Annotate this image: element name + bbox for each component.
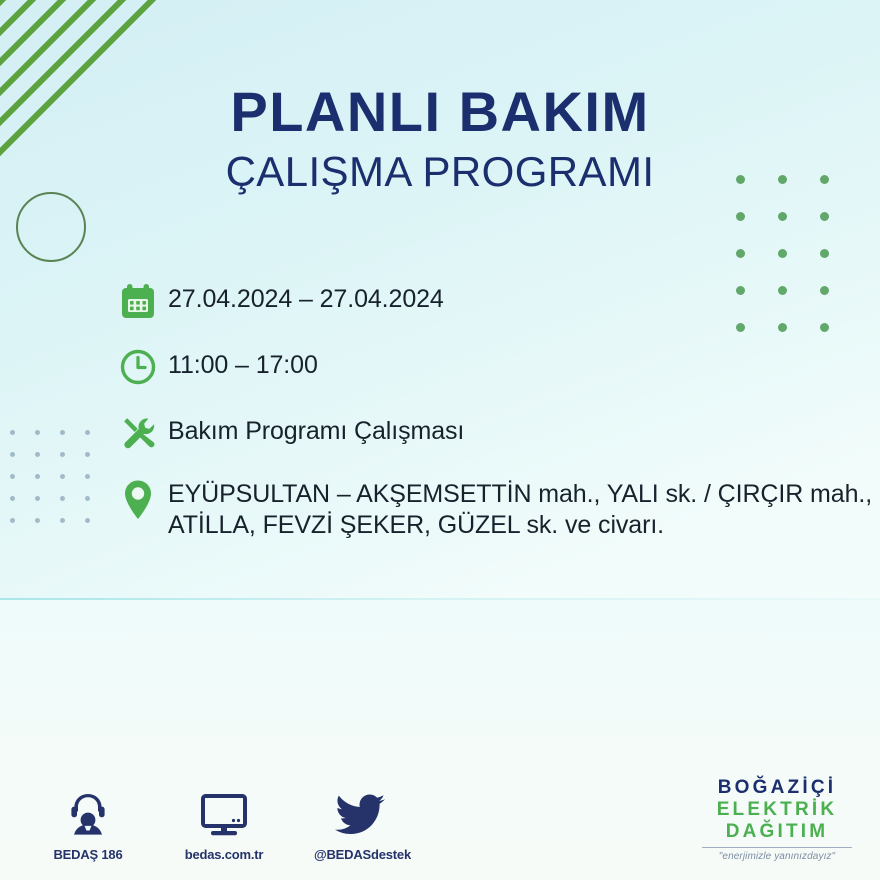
date-range-value: 27.04.2024 – 27.04.2024 [168,278,878,315]
page-subtitle: ÇALIŞMA PROGRAMI [0,151,880,193]
page-title: PLANLI BAKIM [0,84,880,140]
contact-twitter[interactable]: @BEDASdestek [314,786,406,862]
planned-maintenance-poster: PLANLI BAKIM ÇALIŞMA PROGRAMI [0,0,880,880]
work-type-value: Bakım Programı Çalışması [168,410,878,447]
footer-contacts: BEDAŞ 186 bedas.com.tr @BEDASdestek [42,786,406,862]
clock-icon [118,344,168,390]
logo-line-dagitim: DAĞITIM [692,821,862,843]
headset-support-icon [42,786,134,838]
contact-label: @BEDASdestek [314,847,406,862]
detail-row-work-type: Bakım Programı Çalışması [118,410,878,456]
logo-tagline: "enerjimizle yanınızdayız" [692,851,862,862]
logo-line-bogazici: BOĞAZİÇİ [692,777,862,799]
twitter-bird-icon [314,786,406,838]
location-pin-icon [118,476,168,520]
circle-outline-decoration [16,192,86,262]
address-value: EYÜPSULTAN – AKŞEMSETTİN mah., YALI sk. … [168,476,878,540]
calendar-icon [118,278,168,324]
detail-row-address: EYÜPSULTAN – AKŞEMSETTİN mah., YALI sk. … [118,476,878,540]
contact-label: BEDAŞ 186 [42,847,134,862]
contact-call-center[interactable]: BEDAŞ 186 [42,786,134,862]
maintenance-details: 27.04.2024 – 27.04.2024 11:00 – 17:00 [118,278,878,560]
tools-icon [118,410,168,456]
bedas-logo: BOĞAZİÇİ ELEKTRİK DAĞITIM "enerjimizle y… [692,777,862,862]
contact-website[interactable]: bedas.com.tr [178,786,270,862]
poster-heading: PLANLI BAKIM ÇALIŞMA PROGRAMI [0,84,880,193]
logo-divider [702,847,852,848]
address-line-1: EYÜPSULTAN – AKŞEMSETTİN mah., YALI sk. … [168,480,803,508]
detail-row-date: 27.04.2024 – 27.04.2024 [118,278,878,324]
contact-label: bedas.com.tr [178,847,270,862]
monitor-icon [178,786,270,838]
time-range-value: 11:00 – 17:00 [168,344,878,381]
dot-grid-left-decoration [10,430,110,540]
detail-row-time: 11:00 – 17:00 [118,344,878,390]
logo-line-elektrik: ELEKTRİK [692,799,862,821]
section-divider [0,598,880,600]
